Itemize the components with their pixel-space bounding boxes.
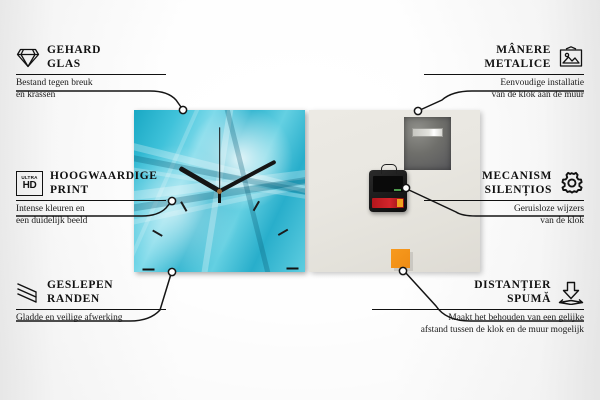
feature-divider (16, 74, 166, 75)
feature-heading: ultra HD HOOGWAARDIGE PRINT (16, 170, 166, 197)
feature-heading: MECANISM SILENȚIOS (424, 170, 584, 197)
feature-description: Intense kleuren en een duidelijk beeld (16, 204, 166, 227)
spacer-arrow-icon (558, 281, 584, 305)
feature-geslepen-randen: GESLEPEN RANDEN Gladde en veilige afwerk… (16, 279, 166, 325)
leader-endpoint (402, 184, 409, 191)
leader-endpoint (168, 197, 175, 204)
diamond-icon (16, 47, 40, 68)
feature-distantier-spuma: DISTANȚIER SPUMĂ Maakt het behouden van … (372, 279, 584, 336)
feature-gehard-glas: GEHARD GLAS Bestand tegen breuk en krass… (16, 44, 166, 101)
feature-hoogwaardige-print: ultra HD HOOGWAARDIGE PRINT Intense kleu… (16, 170, 166, 227)
ultra-hd-big-label: HD (23, 181, 37, 191)
feature-title: HOOGWAARDIGE PRINT (50, 170, 158, 197)
leader-endpoint (414, 107, 421, 114)
beveled-edges-icon (16, 282, 40, 304)
leader-endpoint (399, 267, 406, 274)
feature-heading: MÂNERE METALICE (424, 44, 584, 71)
feature-divider (16, 200, 166, 201)
feature-mecanism-silentios: MECANISM SILENȚIOS Geruisloze wijzers va… (424, 170, 584, 227)
feature-description: Bestand tegen breuk en krassen (16, 78, 166, 101)
feature-divider (372, 309, 584, 310)
feature-manere-metalice: MÂNERE METALICE Eenvoudige installatie v… (424, 44, 584, 101)
infographic-canvas: GEHARD GLAS Bestand tegen breuk en krass… (0, 0, 600, 400)
feature-divider (424, 200, 584, 201)
feature-description: Maakt het behouden van een gelijke afsta… (372, 313, 584, 336)
leader-endpoint (179, 106, 186, 113)
feature-description: Eenvoudige installatie van de klok aan d… (424, 78, 584, 101)
feature-title: MECANISM SILENȚIOS (482, 170, 552, 197)
feature-title: MÂNERE METALICE (484, 44, 551, 71)
feature-title: DISTANȚIER SPUMĂ (474, 279, 551, 306)
picture-hanger-icon (558, 46, 584, 69)
feature-heading: GESLEPEN RANDEN (16, 279, 166, 306)
leader-endpoint (168, 268, 175, 275)
feature-title: GEHARD GLAS (47, 44, 101, 71)
feature-heading: DISTANȚIER SPUMĂ (372, 279, 584, 306)
gear-icon (559, 171, 584, 196)
feature-title: GESLEPEN RANDEN (47, 279, 113, 306)
feature-divider (16, 309, 166, 310)
feature-divider (424, 74, 584, 75)
feature-description: Gladde en veilige afwerking (16, 313, 166, 325)
ultra-hd-icon: ultra HD (16, 171, 43, 196)
feature-description: Geruisloze wijzers van de klok (424, 204, 584, 227)
feature-heading: GEHARD GLAS (16, 44, 166, 71)
